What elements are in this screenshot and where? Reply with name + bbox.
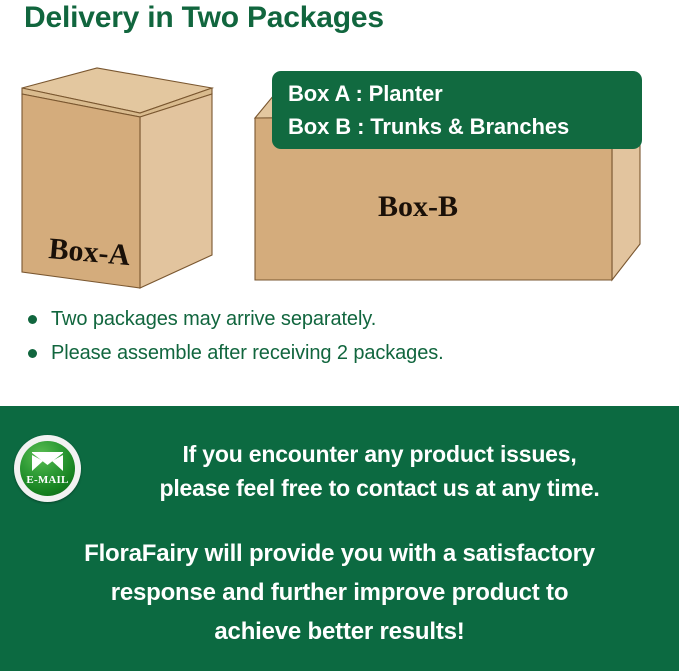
bullet-dot-icon [28,315,37,324]
badge-core: E-MAIL [20,441,75,496]
brand-promise-text: FloraFairy will provide you with a satis… [20,534,659,651]
support-footer: E-MAIL If you encounter any product issu… [0,406,679,671]
contact-line-2: please feel free to contact us at any ti… [92,471,667,505]
box-a-side-panel [140,94,212,288]
contact-line-1: If you encounter any product issues, [92,437,667,471]
delivery-info-graphic: Delivery in Two Packages Box-A Box-B [0,0,679,671]
delivery-notes-list: Two packages may arrive separately. Plea… [28,302,668,370]
email-badge: E-MAIL [14,435,81,502]
packages-label-card: Box A : Planter Box B : Trunks & Branche… [272,71,642,149]
delivery-note-2: Please assemble after receiving 2 packag… [51,342,444,365]
support-contact-text: If you encounter any product issues, ple… [92,437,667,505]
box-a-graphic: Box-A [22,68,212,288]
box-b-caption: Box-B [378,190,458,223]
support-contact-row: E-MAIL If you encounter any product issu… [0,406,679,516]
promise-line-3: achieve better results! [20,612,659,651]
packages-label-line-a: Box A : Planter [288,77,626,110]
promise-line-2: response and further improve product to [20,573,659,612]
promise-line-1: FloraFairy will provide you with a satis… [20,534,659,573]
bullet-dot-icon [28,349,37,358]
page-title: Delivery in Two Packages [24,1,384,35]
list-item: Two packages may arrive separately. [28,302,668,336]
email-badge-label: E-MAIL [20,474,75,486]
envelope-icon [31,451,64,473]
delivery-note-1: Two packages may arrive separately. [51,308,376,331]
list-item: Please assemble after receiving 2 packag… [28,336,668,370]
packages-label-line-b: Box B : Trunks & Branches [288,110,626,143]
